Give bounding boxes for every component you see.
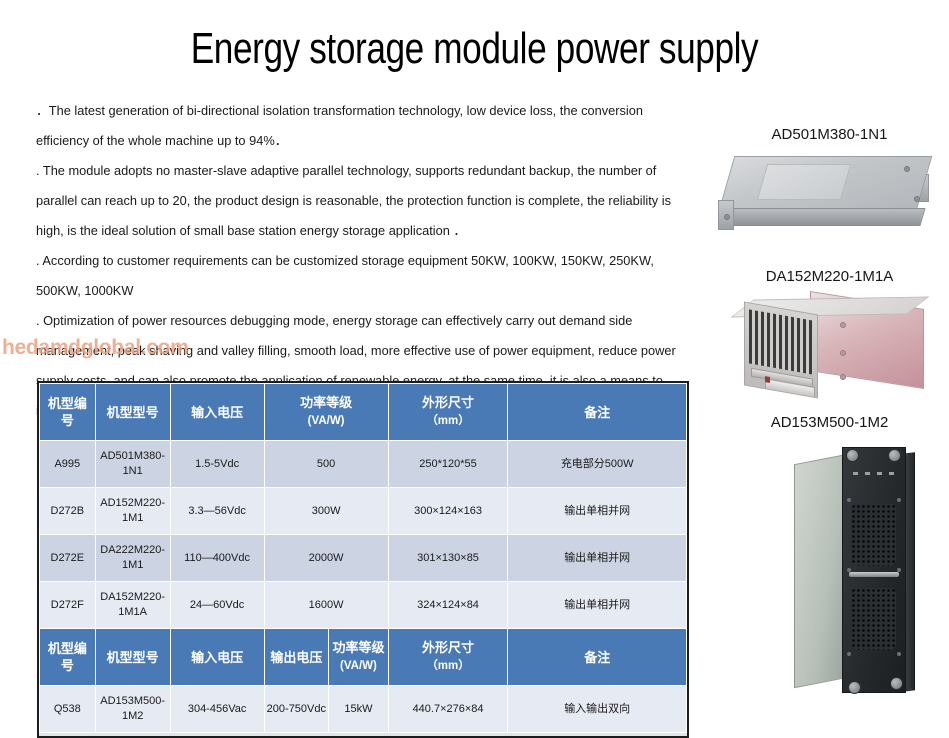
cell-dimensions: 324×124×84: [388, 582, 508, 629]
cell-dimensions: 440.7×276×84: [388, 686, 508, 733]
header-cell: 外形尺寸 （mm）: [388, 384, 508, 441]
screw-icon: [897, 568, 901, 572]
cell-input-voltage: 24—60Vdc: [170, 582, 264, 629]
table-row: D272B AD152M220-1M1 3.3—56Vdc 300W 300×1…: [40, 488, 687, 535]
table-row: D272F DA152M220-1M1A 24—60Vdc 1600W 324×…: [40, 582, 687, 629]
table-header-row-1: 机型编号 机型型号 输入电压 功率等级 (VA/W) 外形尺寸 （mm） 备注: [40, 384, 687, 441]
module-front-panel: [744, 301, 818, 398]
product-image-da152m220-1m1a: [722, 298, 932, 398]
header-cell: 输入电压: [170, 384, 264, 441]
thumbscrew-icon: [848, 681, 861, 694]
module-side-body: [794, 454, 848, 688]
cell-input-voltage: 304-456Vac: [170, 686, 264, 733]
thumbscrew-icon: [846, 449, 859, 462]
table-row: A995 AD501M380-1N1 1.5-5Vdc 500 250*120*…: [40, 441, 687, 488]
module-red-tab: [765, 376, 770, 383]
cell-model-type: DA222M220-1M1: [95, 535, 170, 582]
header-cell: 输入电压: [170, 629, 264, 686]
module-handle: [849, 572, 899, 577]
screw-icon: [840, 374, 846, 380]
spec-table: 机型编号 机型型号 输入电压 功率等级 (VA/W) 外形尺寸 （mm） 备注: [37, 381, 689, 738]
screw-icon: [847, 652, 851, 656]
screw-icon: [840, 322, 846, 328]
screw-icon: [914, 196, 920, 202]
cell-model-no: D272F: [40, 582, 96, 629]
cell-dimensions: 301×130×85: [388, 535, 508, 582]
table-header-row-2: 机型编号 机型型号 输入电压 输出电压 功率等级 (VA/W) 外形尺寸 （mm: [40, 629, 687, 686]
led-indicator-icon: [853, 472, 858, 475]
cell-dimensions: 300×124×163: [388, 488, 508, 535]
screw-icon: [904, 166, 910, 172]
header-cell: 机型型号: [95, 629, 170, 686]
cell-model-type: AD153M500-1M2: [95, 686, 170, 733]
screw-icon: [897, 652, 901, 656]
cell-input-voltage: 1.5-5Vdc: [170, 441, 264, 488]
header-cell: 功率等级 (VA/W): [329, 629, 389, 686]
cell-power: 300W: [264, 488, 388, 535]
screw-icon: [847, 498, 851, 502]
screw-icon: [897, 498, 901, 502]
table-row: Q538 AD153M500-1M2 304-456Vac 200-750Vdc…: [40, 686, 687, 733]
cell-power: 15kW: [329, 686, 389, 733]
cell-model-no: D272E: [40, 535, 96, 582]
cell-model-no: Q538: [40, 686, 96, 733]
cell-remark: 输出单相并网: [508, 582, 687, 629]
screw-icon: [724, 214, 730, 220]
body-paragraph-2: . The module adopts no master-slave adap…: [36, 156, 680, 246]
chassis-front-panel: [718, 208, 925, 226]
page-title: Energy storage module power supply: [95, 24, 854, 74]
thumbscrew-icon: [888, 449, 901, 462]
led-indicator-icon: [877, 472, 882, 475]
cell-model-type: AD501M380-1N1: [95, 441, 170, 488]
cell-model-no: D272B: [40, 488, 96, 535]
product-caption-1: AD501M380-1N1: [710, 126, 949, 143]
fan-grille-icon: [851, 504, 896, 566]
header-cell: 外形尺寸 （mm）: [388, 629, 508, 686]
header-cell: 机型编号: [40, 384, 96, 441]
screw-icon: [847, 568, 851, 572]
cell-remark: 输入输出双向: [508, 686, 687, 733]
product-caption-2: DA152M220-1M1A: [710, 268, 949, 285]
product-image-ad501m380-1n1: [718, 152, 933, 247]
body-paragraph-3: . According to customer requirements can…: [36, 246, 680, 306]
body-paragraph-1: ．The latest generation of bi-directional…: [36, 96, 680, 156]
table-row: D272E DA222M220-1M1 110—400Vdc 2000W 301…: [40, 535, 687, 582]
cell-power: 500: [264, 441, 388, 488]
header-cell: 功率等级 (VA/W): [264, 384, 388, 441]
cell-remark: 输出单相并网: [508, 488, 687, 535]
cell-model-no: A995: [40, 441, 96, 488]
module-front-face: [842, 447, 906, 693]
vent-grille-icon: [749, 309, 813, 374]
fan-grille-icon: [851, 588, 896, 650]
cell-input-voltage: 3.3—56Vdc: [170, 488, 264, 535]
thumbscrew-icon: [890, 677, 903, 690]
cell-power: 1600W: [264, 582, 388, 629]
header-cell: 机型编号: [40, 629, 96, 686]
led-indicator-icon: [865, 472, 870, 475]
cell-power: 2000W: [264, 535, 388, 582]
product-caption-3: AD153M500-1M2: [710, 414, 949, 431]
cell-dimensions: 250*120*55: [388, 441, 508, 488]
cell-remark: 输出单相并网: [508, 535, 687, 582]
cell-output-voltage: 200-750Vdc: [264, 686, 329, 733]
header-cell: 机型型号: [95, 384, 170, 441]
cell-input-voltage: 110—400Vdc: [170, 535, 264, 582]
header-cell: 输出电压: [264, 629, 329, 686]
chassis-inset-panel: [757, 164, 851, 200]
header-cell: 备注: [508, 384, 687, 441]
cell-model-type: AD152M220-1M1: [95, 488, 170, 535]
led-indicator-icon: [889, 472, 894, 475]
product-image-ad153m500-1m2: [790, 445, 940, 693]
cell-remark: 充电部分500W: [508, 441, 687, 488]
screw-icon: [840, 350, 846, 356]
cell-model-type: DA152M220-1M1A: [95, 582, 170, 629]
header-cell: 备注: [508, 629, 687, 686]
body-copy: ．The latest generation of bi-directional…: [36, 96, 680, 426]
